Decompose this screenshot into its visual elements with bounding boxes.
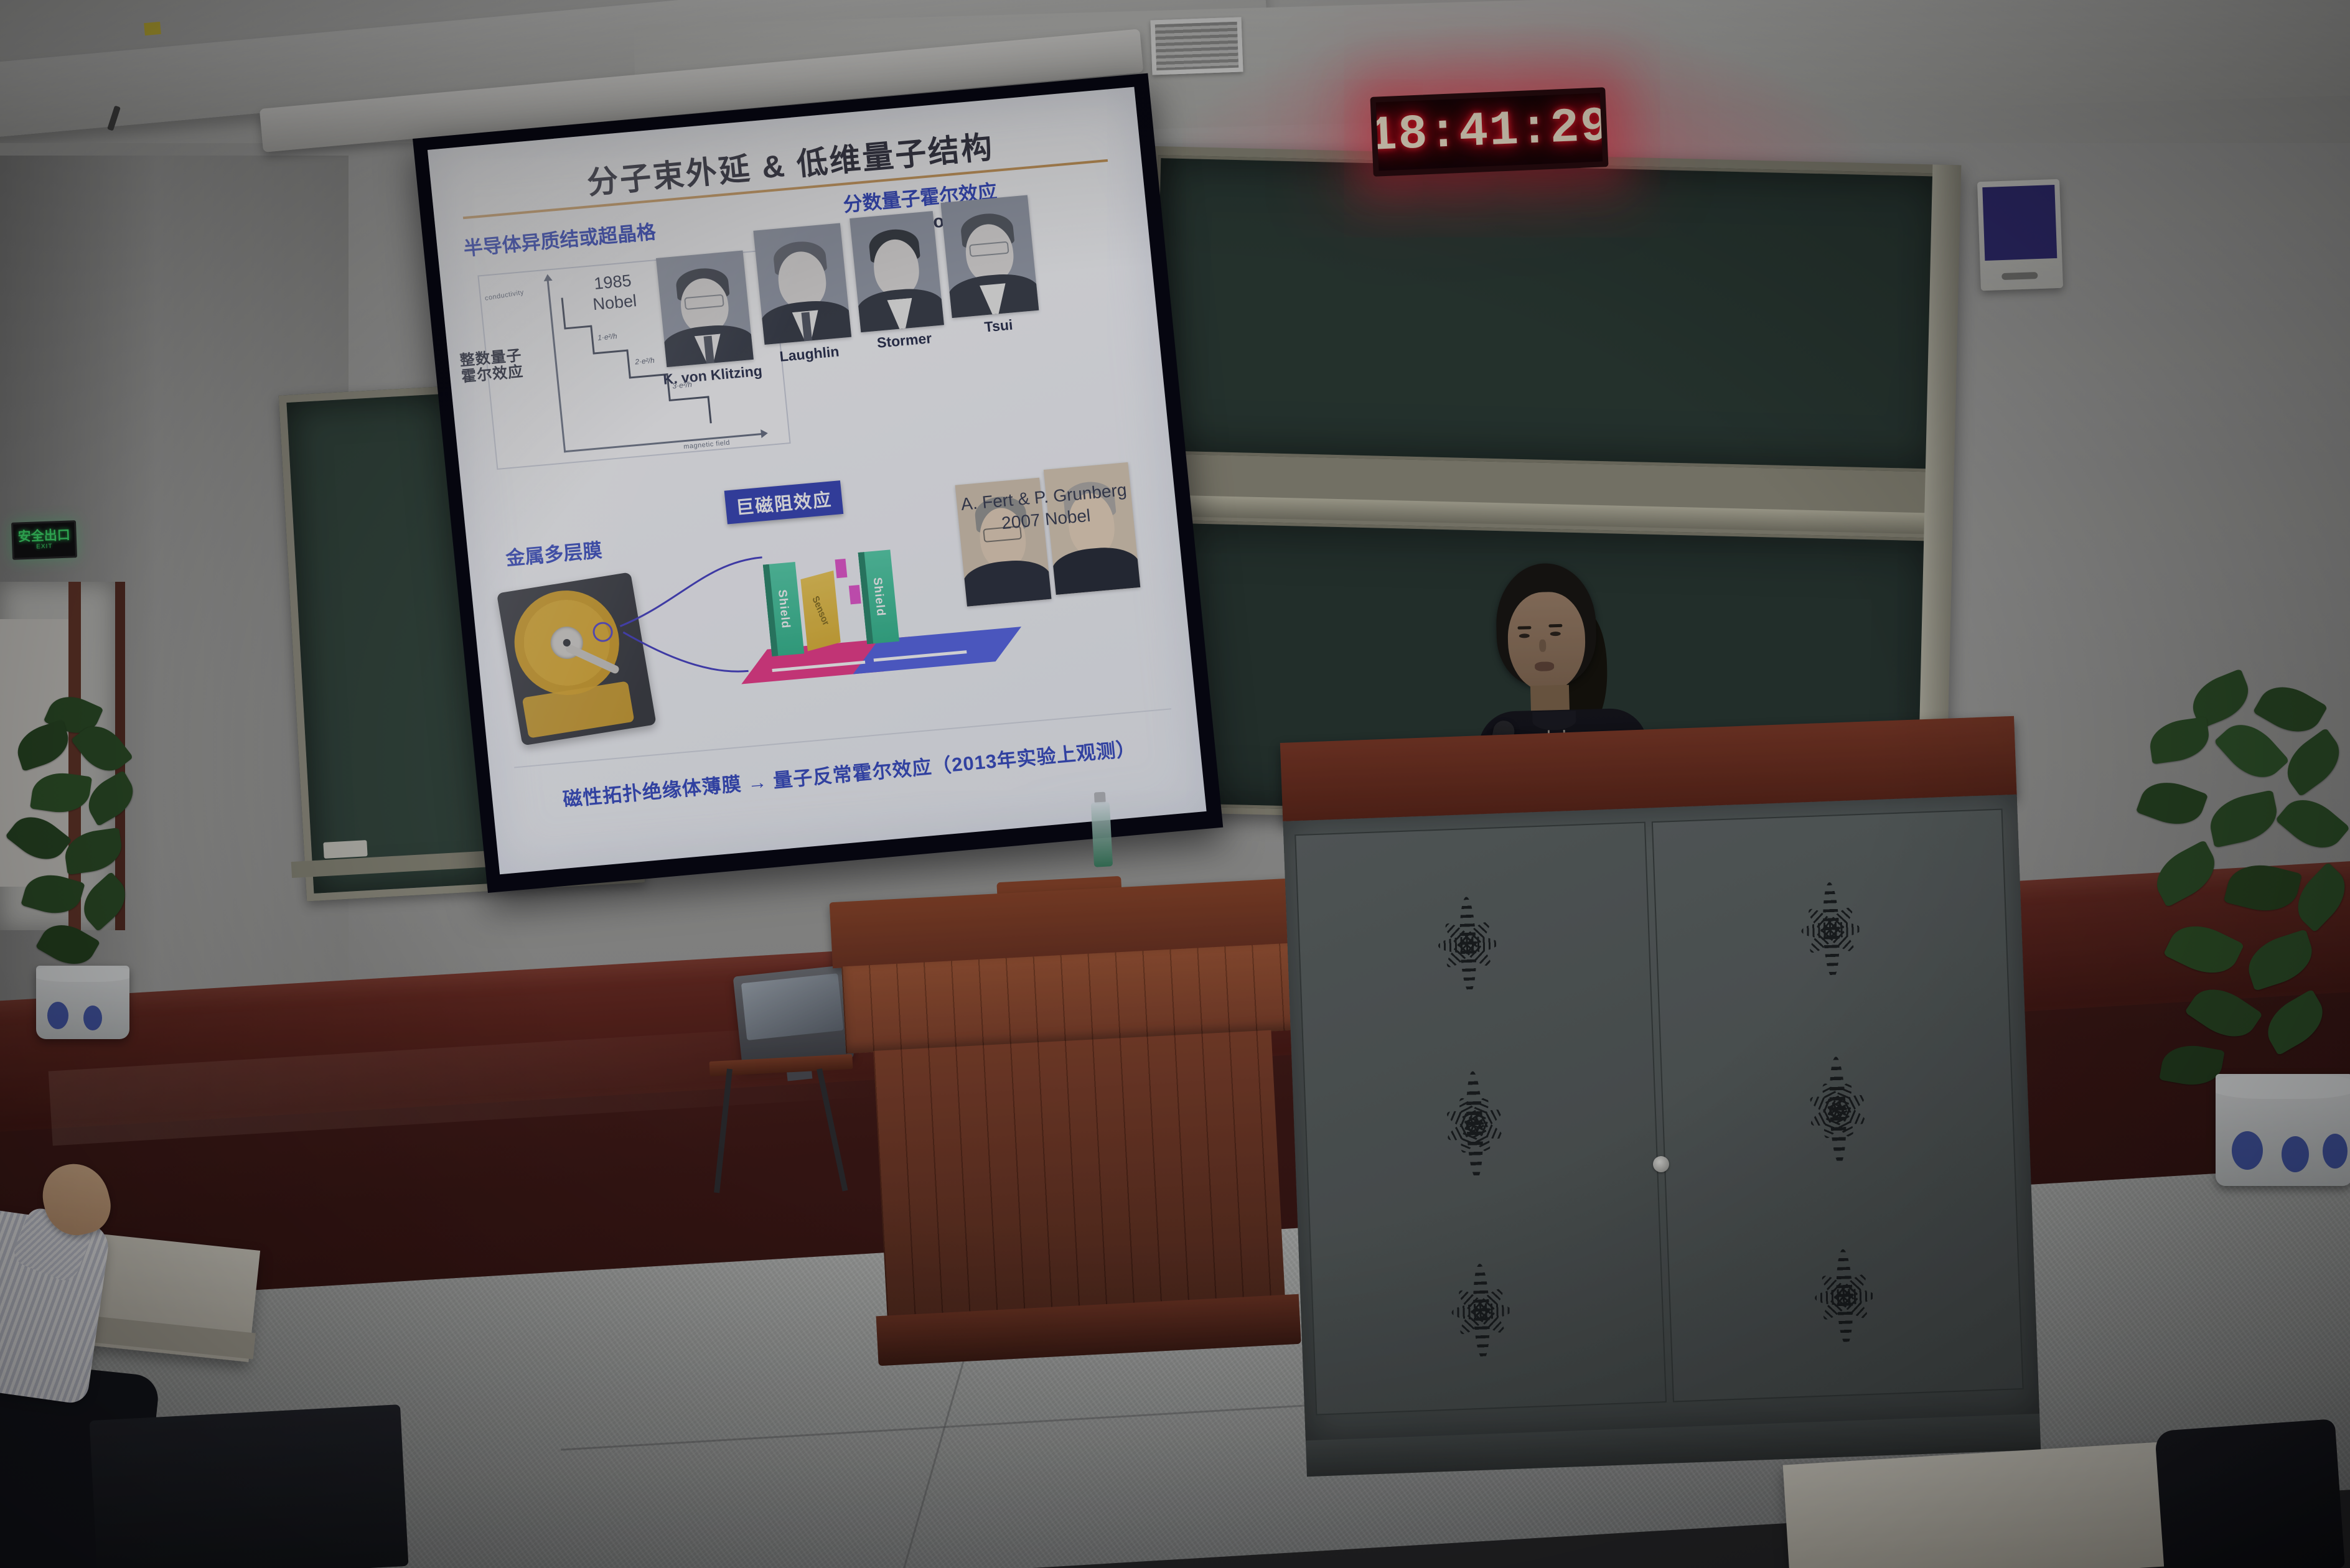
storage-cabinet[interactable] xyxy=(1280,716,2041,1477)
potted-plant-left xyxy=(11,697,154,1045)
plant-pot-left xyxy=(36,966,129,1039)
slide-content: 分子束外延 & 低维量子结构 半导体异质结或超晶格 分数量子霍尔效应 1998 … xyxy=(428,87,1207,875)
clock-time: 18:41:29 xyxy=(1370,100,1608,164)
chalk-eraser xyxy=(323,840,367,859)
gmr-arrow-down xyxy=(849,585,861,604)
potted-plant-right xyxy=(2135,678,2350,1201)
exit-sign: 安全出口 EXIT xyxy=(11,520,77,560)
cabinet-door-right[interactable] xyxy=(1652,809,2024,1402)
digital-clock: 18:41:29 xyxy=(1370,87,1608,177)
gmr-sensor-label: Sensor xyxy=(810,594,831,628)
perforated-motif xyxy=(1767,1030,1909,1191)
perforated-motif xyxy=(1760,850,1903,1010)
perforated-motif xyxy=(1397,864,1539,1025)
projection-screen: 分子束外延 & 低维量子结构 半导体异质结或超晶格 分数量子霍尔效应 1998 … xyxy=(413,73,1223,893)
water-bottle xyxy=(1089,791,1114,867)
gmr-arrow-up xyxy=(835,559,847,578)
lecture-hall-photo: 安全出口 EXIT 18:41:29 分子束外延 & 低维量子结构 半导体异质结… xyxy=(0,0,2350,1568)
exit-sign-english: EXIT xyxy=(36,542,53,551)
perforated-motif xyxy=(1774,1216,1916,1377)
wall-control-panel[interactable] xyxy=(1977,179,2063,291)
slide-surface: 分子束外延 & 低维量子结构 半导体异质结或超晶格 分数量子霍尔效应 1998 … xyxy=(428,87,1207,875)
gmr-sensor: Sensor xyxy=(800,571,840,651)
lectern xyxy=(830,878,1327,1375)
gmr-shield-right-label: Shield xyxy=(870,577,887,617)
cabinet-door-left[interactable] xyxy=(1294,822,1667,1416)
perforated-motif xyxy=(1403,1045,1546,1205)
roller-tag xyxy=(144,22,161,35)
exit-sign-chinese: 安全出口 xyxy=(17,528,70,543)
plant-pot-right xyxy=(2216,1074,2350,1186)
chair-back xyxy=(90,1404,409,1568)
blackboard-upper-panel xyxy=(1151,155,1944,472)
gmr-shield-left-label: Shield xyxy=(775,589,792,630)
bag xyxy=(2155,1419,2345,1568)
perforated-motif xyxy=(1410,1231,1553,1392)
